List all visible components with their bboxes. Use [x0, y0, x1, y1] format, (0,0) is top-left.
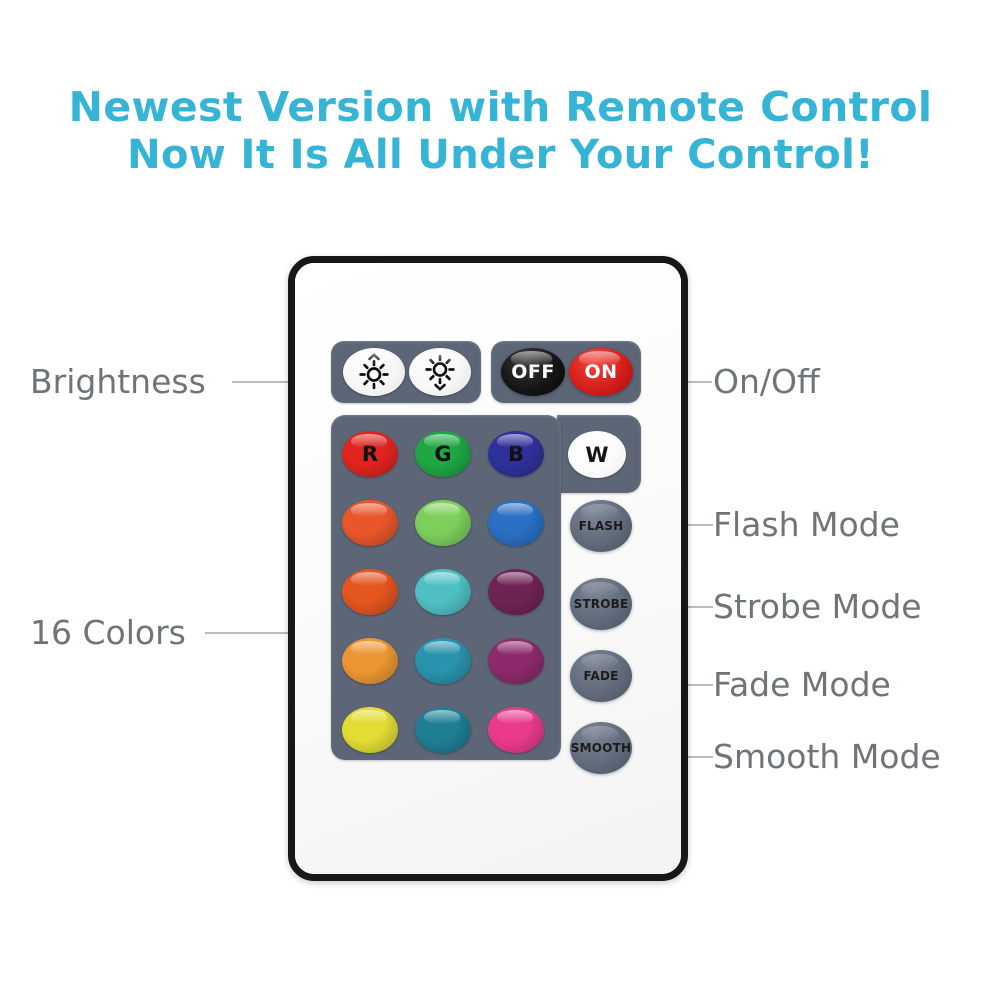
color-yellow-button[interactable] [342, 707, 398, 753]
callout-brightness: Brightness [30, 362, 206, 401]
power-pad: OFF ON [491, 341, 641, 403]
smooth-button[interactable]: SMOOTH [570, 722, 632, 774]
color-bright-blue-button[interactable] [488, 500, 544, 546]
remote-control: OFF ON W RGB FLASHSTROBEFADESMOOTH [288, 256, 688, 881]
white-button-pad: W [557, 415, 641, 493]
color-teal-button[interactable] [415, 638, 471, 684]
brightness-up-button[interactable] [343, 348, 405, 396]
color-orange-red-button[interactable] [342, 500, 398, 546]
fade-button[interactable]: FADE [570, 650, 632, 702]
color-red-label: R [362, 442, 378, 466]
color-green-button[interactable]: G [415, 431, 471, 477]
strobe-button-label: STROBE [574, 597, 629, 611]
smooth-button-label: SMOOTH [571, 741, 631, 755]
color-blue-button[interactable]: B [488, 431, 544, 477]
callout-16-colors: 16 Colors [30, 613, 186, 652]
color-light-green-button[interactable] [415, 500, 471, 546]
color-grid-pad: RGB [331, 415, 561, 760]
strobe-button[interactable]: STROBE [570, 578, 632, 630]
headline-line-1: Newest Version with Remote Control [0, 84, 1001, 132]
color-cyan-button[interactable] [415, 569, 471, 615]
flash-button[interactable]: FLASH [570, 500, 632, 552]
callout-strobe-mode: Strobe Mode [713, 587, 922, 626]
headline-block: Newest Version with Remote Control Now I… [0, 84, 1001, 178]
color-blue-label: B [508, 442, 524, 466]
sun-down-icon [420, 352, 460, 392]
callout-fade-mode: Fade Mode [713, 665, 891, 704]
color-orange-deep-button[interactable] [342, 569, 398, 615]
flash-button-label: FLASH [579, 519, 624, 533]
headline-line-2: Now It Is All Under Your Control! [0, 132, 1001, 178]
color-dark-teal-button[interactable] [415, 707, 471, 753]
remote-face: OFF ON W RGB FLASHSTROBEFADESMOOTH [295, 263, 681, 874]
color-magenta-purple-button[interactable] [488, 638, 544, 684]
callout-smooth-mode: Smooth Mode [713, 737, 941, 776]
color-red-button[interactable]: R [342, 431, 398, 477]
callout-on-off: On/Off [713, 362, 820, 401]
color-dark-purple-button[interactable] [488, 569, 544, 615]
color-orange-button[interactable] [342, 638, 398, 684]
off-button[interactable]: OFF [501, 348, 565, 396]
fade-button-label: FADE [583, 669, 618, 683]
sun-up-icon [354, 352, 394, 392]
callout-flash-mode: Flash Mode [713, 505, 900, 544]
color-green-label: G [434, 442, 451, 466]
on-button[interactable]: ON [569, 348, 633, 396]
brightness-pad [331, 341, 481, 403]
brightness-down-button[interactable] [409, 348, 471, 396]
color-white-button[interactable]: W [568, 431, 626, 478]
color-pink-button[interactable] [488, 707, 544, 753]
